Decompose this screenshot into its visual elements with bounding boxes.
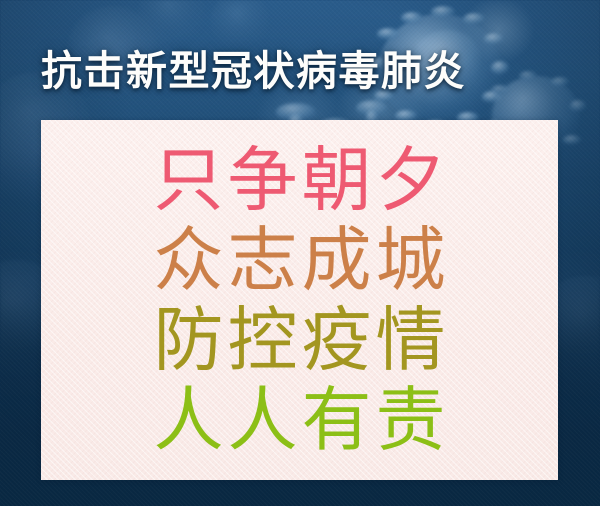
slogan-line-3: 防控疫情	[150, 300, 450, 380]
slogan-card: 只争朝夕 众志成城 防控疫情 人人有责	[41, 120, 558, 480]
covid-awareness-poster: 抗击新型冠状病毒肺炎 只争朝夕 众志成城 防控疫情 人人有责	[0, 0, 600, 506]
slogan-line-1: 只争朝夕	[150, 140, 450, 220]
slogan-line-4: 人人有责	[150, 380, 450, 460]
slogan-line-2: 众志成城	[150, 220, 450, 300]
poster-headline: 抗击新型冠状病毒肺炎	[41, 51, 466, 92]
